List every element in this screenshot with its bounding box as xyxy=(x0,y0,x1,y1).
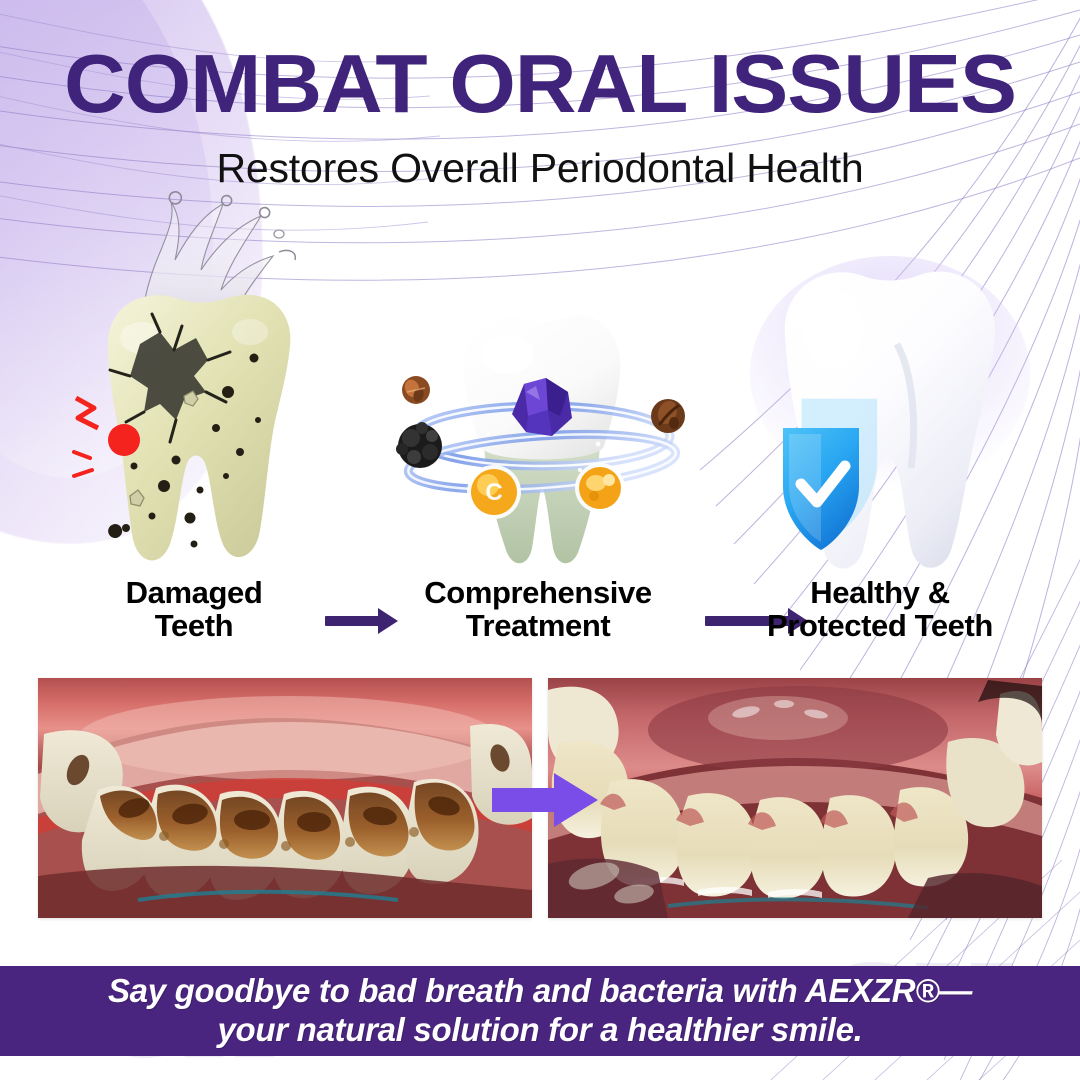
caption-comprehensive-treatment: Comprehensive Treatment xyxy=(358,576,718,643)
banner-line-1: Say goodbye to bad breath and bacteria w… xyxy=(108,972,972,1009)
page-title: COMBAT ORAL ISSUES xyxy=(0,42,1080,125)
caption-line: Teeth xyxy=(14,609,374,642)
banner-line-2: your natural solution for a healthier sm… xyxy=(217,1011,862,1048)
svg-text:C: C xyxy=(485,479,502,506)
after-photo xyxy=(548,678,1042,918)
caption-line: Damaged xyxy=(14,576,374,609)
pain-dot-icon xyxy=(108,424,140,456)
treatment-tooth-icon: C xyxy=(392,284,692,574)
caption-line: Comprehensive xyxy=(358,576,718,609)
before-after-arrow-icon xyxy=(492,772,600,828)
caption-line: Treatment xyxy=(358,609,718,642)
vitamin-c-capsule-icon: C xyxy=(467,465,521,519)
stage-healthy-protected xyxy=(740,188,1040,588)
poster-canvas: CH CH COMBAT ORAL ISSUES Restores Overal… xyxy=(0,0,1080,1080)
caption-damaged-teeth: Damaged Teeth xyxy=(14,576,374,643)
treatment-stages: C xyxy=(0,188,1080,588)
vitamin-oil-capsule-icon xyxy=(575,463,625,513)
charcoal-cluster-icon xyxy=(396,422,442,468)
page-subtitle: Restores Overall Periodontal Health xyxy=(0,146,1080,191)
bottom-banner: Say goodbye to bad breath and bacteria w… xyxy=(0,966,1080,1056)
brown-seed-icon xyxy=(402,376,430,404)
before-photo xyxy=(38,678,532,918)
stage-comprehensive-treatment: C xyxy=(392,188,692,588)
caption-healthy-protected: Healthy & Protected Teeth xyxy=(700,576,1060,643)
healthy-tooth-icon xyxy=(745,254,1035,584)
coffee-bean-icon xyxy=(651,398,685,433)
caption-line: Protected Teeth xyxy=(700,609,1060,642)
damaged-tooth-icon xyxy=(68,280,328,580)
stage-damaged-teeth xyxy=(48,188,348,588)
caption-line: Healthy & xyxy=(700,576,1060,609)
banner-text: Say goodbye to bad breath and bacteria w… xyxy=(80,972,1000,1049)
